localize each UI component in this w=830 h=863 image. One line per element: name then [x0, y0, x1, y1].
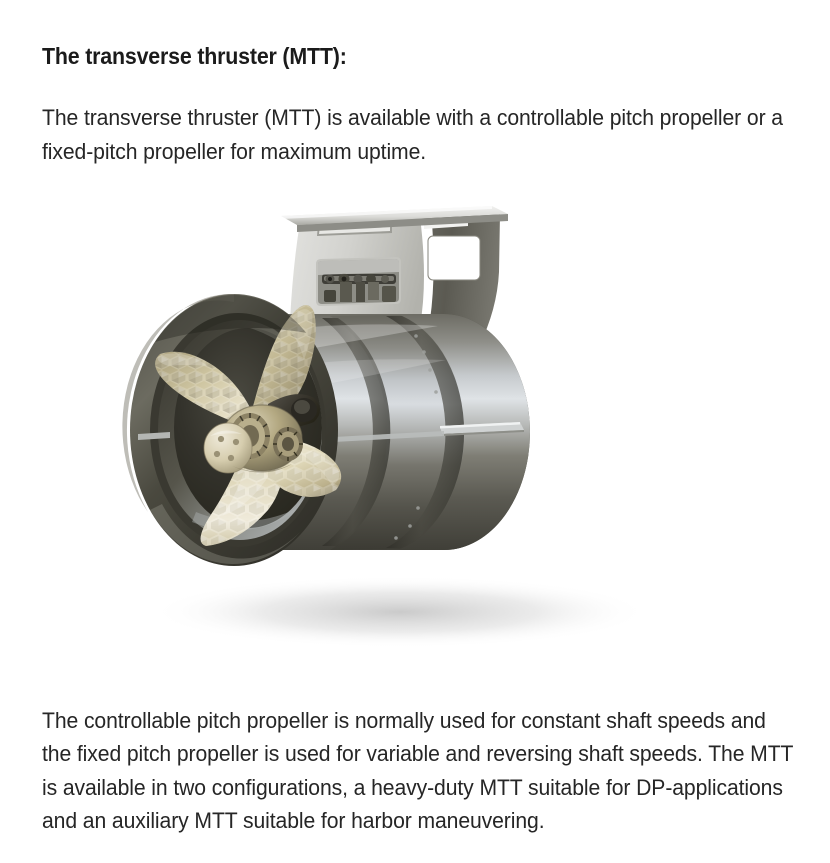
page-title: The transverse thruster (MTT): [42, 41, 749, 71]
drop-shadow [150, 576, 650, 648]
hub-cap [204, 423, 252, 473]
gear-housing [318, 259, 399, 304]
pitch-gear-ring [273, 427, 303, 461]
page-root: The transverse thruster (MTT): The trans… [0, 0, 830, 863]
intro-paragraph: The transverse thruster (MTT) is availab… [42, 101, 785, 169]
outro-paragraph: The controllable pitch propeller is norm… [42, 704, 794, 838]
bracket-rear-window [428, 236, 480, 280]
thruster-illustration [0, 160, 830, 660]
product-image [0, 160, 830, 660]
